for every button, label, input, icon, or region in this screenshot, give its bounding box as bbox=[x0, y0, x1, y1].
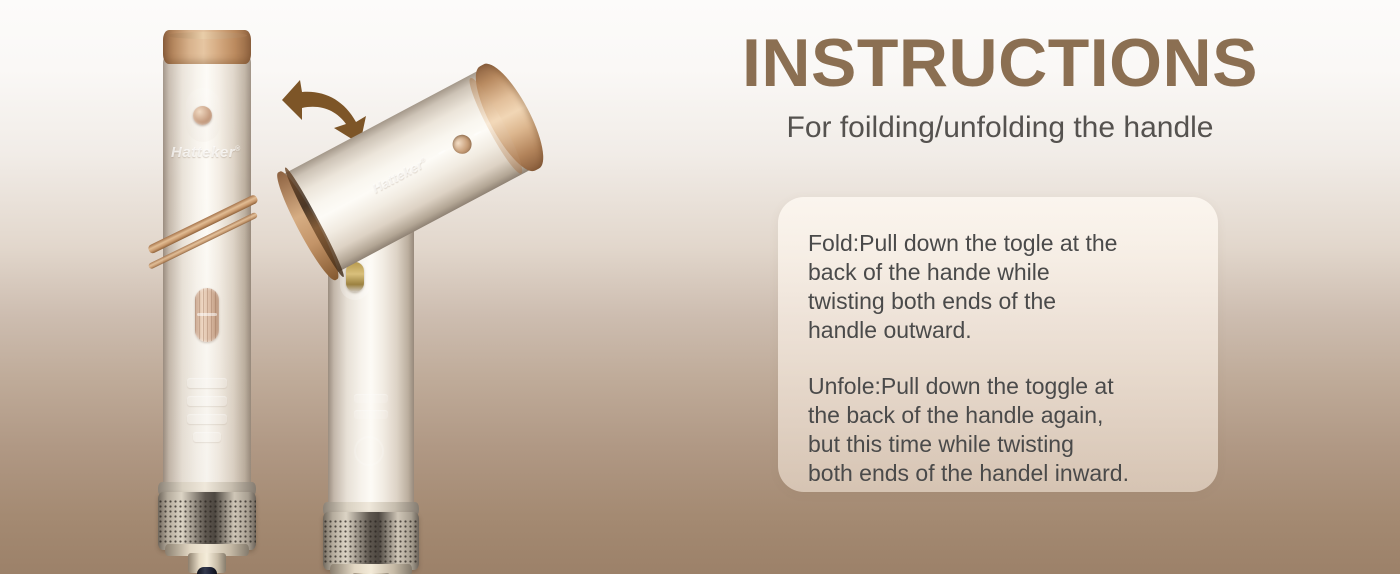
emboss-mark-3 bbox=[187, 414, 227, 424]
text-panel: INSTRUCTIONS For foilding/unfolding the … bbox=[700, 0, 1400, 574]
power-cable bbox=[197, 567, 217, 574]
fold-instruction-text: Fold:Pull down the togle at the back of … bbox=[808, 229, 1198, 345]
unfold-instruction-text: Unfole:Pull down the toggle at the back … bbox=[808, 372, 1198, 488]
handle-toggle-switch bbox=[195, 288, 219, 342]
instructions-card-content: Fold:Pull down the togle at the back of … bbox=[808, 229, 1198, 488]
product-image-folded-dryer: Hatteker® bbox=[320, 158, 620, 574]
trademark-symbol: ® bbox=[235, 146, 241, 153]
instructions-card: Fold:Pull down the togle at the back of … bbox=[778, 197, 1218, 492]
product-image-unfolded-dryer: Hatteker® bbox=[155, 26, 263, 574]
arrow-path bbox=[282, 80, 366, 144]
emboss-mark-1 bbox=[187, 378, 227, 388]
page-title: INSTRUCTIONS bbox=[700, 28, 1300, 99]
folded-emboss-ring bbox=[354, 436, 384, 466]
dryer-top-cap bbox=[163, 30, 251, 64]
folded-emboss-mark-1 bbox=[354, 394, 388, 403]
emboss-mark-2 bbox=[187, 396, 227, 406]
emboss-mark-4 bbox=[193, 432, 221, 442]
folded-mesh-filter-grille bbox=[323, 512, 419, 570]
brand-logo-unfolded: Hatteker® bbox=[171, 144, 241, 161]
folded-emboss-mark-2 bbox=[354, 410, 388, 419]
mesh-filter-grille bbox=[158, 492, 256, 550]
page-subtitle: For foilding/unfolding the handle bbox=[700, 108, 1300, 147]
instructions-banner: Hatteker® Hatteker® bbox=[0, 0, 1400, 574]
brand-logo-text: Hatteker bbox=[171, 144, 235, 161]
power-button-icon bbox=[193, 106, 212, 125]
